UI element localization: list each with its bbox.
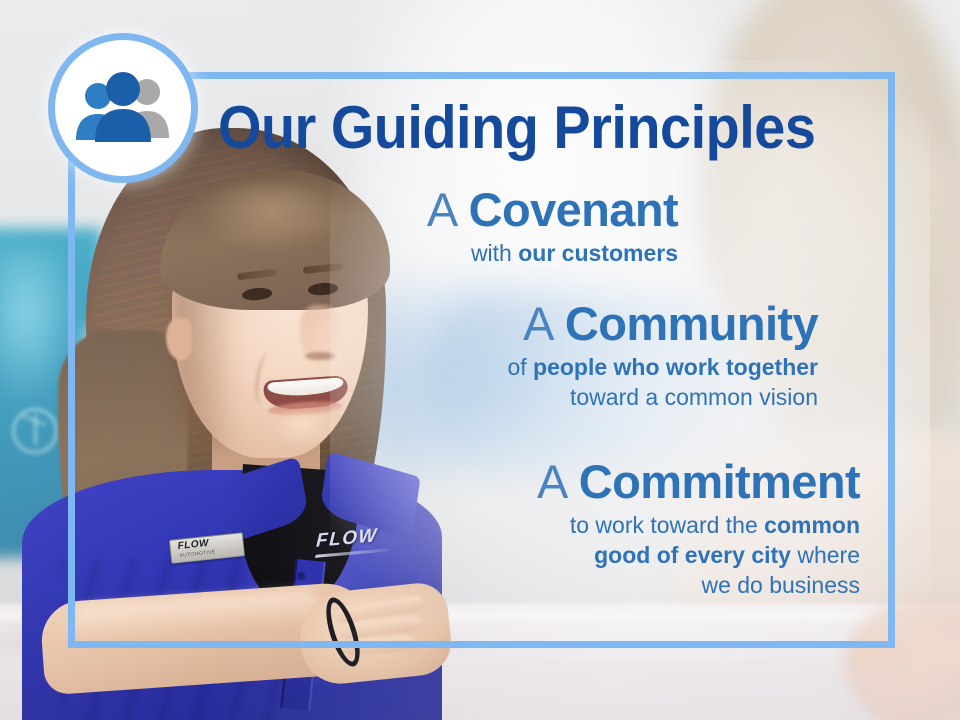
principle-heading: A Covenant xyxy=(238,186,678,235)
principle-article: A xyxy=(523,297,552,350)
principle-word: Commitment xyxy=(579,455,860,508)
people-group-badge xyxy=(48,33,198,183)
customer-finger xyxy=(855,640,960,666)
principle-article: A xyxy=(427,183,456,236)
principle-covenant: A Covenant with our customers xyxy=(238,186,678,269)
employee-chin xyxy=(272,414,334,448)
page-title: Our Guiding Principles xyxy=(218,98,832,158)
principle-community: A Community of people who work togethert… xyxy=(268,300,818,413)
people-group-icon xyxy=(71,72,175,144)
principle-detail: with our customers xyxy=(238,239,678,269)
principle-detail: of people who work togethertoward a comm… xyxy=(268,353,818,413)
guiding-principles-graphic: FLOW FLOW AUTOMOTIVE xyxy=(0,0,960,720)
principle-detail: to work toward the commongood of every c… xyxy=(300,511,860,601)
principle-heading: A Commitment xyxy=(300,458,860,507)
employee-ear xyxy=(166,318,192,360)
principle-word: Covenant xyxy=(469,183,678,236)
principle-heading: A Community xyxy=(268,300,818,349)
principle-commitment: A Commitment to work toward the commongo… xyxy=(300,458,860,601)
principle-article: A xyxy=(537,455,566,508)
principle-word: Community xyxy=(565,297,818,350)
